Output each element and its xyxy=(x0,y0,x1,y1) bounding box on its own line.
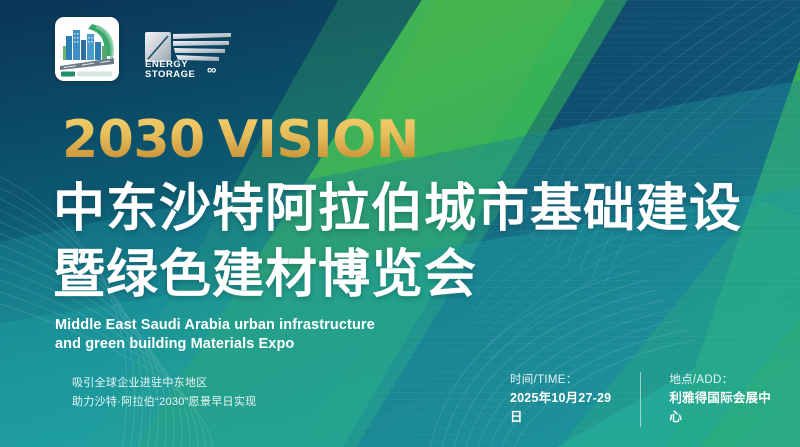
infinity-icon: ∞ xyxy=(207,62,215,77)
event-info: 时间/TIME： 2025年10月27-29日 地点/ADD： 利雅得国际会展中… xyxy=(510,372,800,427)
energy-storage-wordmark: ENERGY STORAGE xyxy=(145,60,195,79)
city-skyline-icon xyxy=(58,20,116,78)
cn-title-line1: 中东沙特阿拉伯城市基础建设 xyxy=(53,179,742,239)
time-value: 2025年10月27-29日 xyxy=(510,389,618,427)
en-subtitle: Middle East Saudi Arabia urban infrastru… xyxy=(55,316,375,354)
city-international-expo-logo xyxy=(55,17,119,81)
slogan-line2: 助力沙特·阿拉伯“2030”愿景早日实现 xyxy=(72,393,256,412)
logo-row: ENERGY STORAGE ∞ xyxy=(55,17,237,81)
event-time: 时间/TIME： 2025年10月27-29日 xyxy=(510,372,640,427)
vision-year: 2030 xyxy=(62,110,205,170)
storage-label: STORAGE xyxy=(145,69,195,80)
cn-title-line2: 暨绿色建材博览会 xyxy=(53,242,742,308)
page-title: 中东沙特阿拉伯城市基础建设 暨绿色建材博览会 xyxy=(53,176,742,308)
vision-word: VISION xyxy=(218,110,419,170)
slogan-block: 吸引全球企业进驻中东地区 助力沙特·阿拉伯“2030”愿景早日实现 xyxy=(72,374,256,412)
energy-storage-logo: ENERGY STORAGE ∞ xyxy=(145,20,237,78)
time-label: 时间/TIME： xyxy=(510,372,618,389)
event-poster: ENERGY STORAGE ∞ 2030VISION 中东沙特阿拉伯城市基础建… xyxy=(0,0,800,447)
en-subtitle-line1: Middle East Saudi Arabia urban infrastru… xyxy=(55,316,375,335)
address-value: 利雅得国际会展中心 xyxy=(669,389,778,427)
slogan-line1: 吸引全球企业进驻中东地区 xyxy=(72,374,256,393)
en-subtitle-line2: and green building Materials Expo xyxy=(55,335,375,354)
address-label: 地点/ADD： xyxy=(669,372,778,389)
vision-headline: 2030VISION xyxy=(62,113,419,167)
event-address: 地点/ADD： 利雅得国际会展中心 xyxy=(641,372,800,427)
